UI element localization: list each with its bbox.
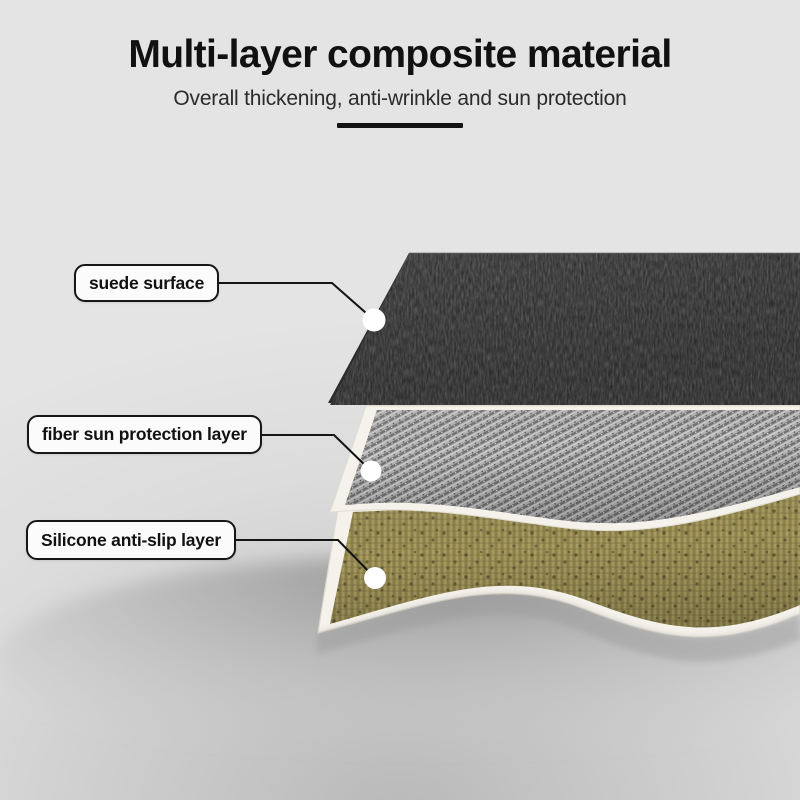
callout-dot-icon-fiber	[361, 461, 382, 482]
callout-dot-icon-suede	[363, 309, 386, 332]
callout-dot-icon-silicone	[364, 567, 386, 589]
callout-label-fiber-sun-protection-layer[interactable]: fiber sun protection layer	[27, 415, 262, 454]
layer-stack-illustration	[0, 0, 800, 800]
callout-label-suede-surface[interactable]: suede surface	[74, 264, 219, 302]
callout-label-text: Silicone anti-slip layer	[41, 530, 221, 551]
callout-label-text: fiber sun protection layer	[42, 424, 247, 445]
callout-label-text: suede surface	[89, 273, 204, 294]
callout-label-silicone-anti-slip-layer[interactable]: Silicone anti-slip layer	[26, 520, 236, 560]
product-infographic: Multi-layer composite material Overall t…	[0, 0, 800, 800]
leader-line-suede	[205, 283, 374, 320]
layer-suede	[320, 248, 800, 410]
